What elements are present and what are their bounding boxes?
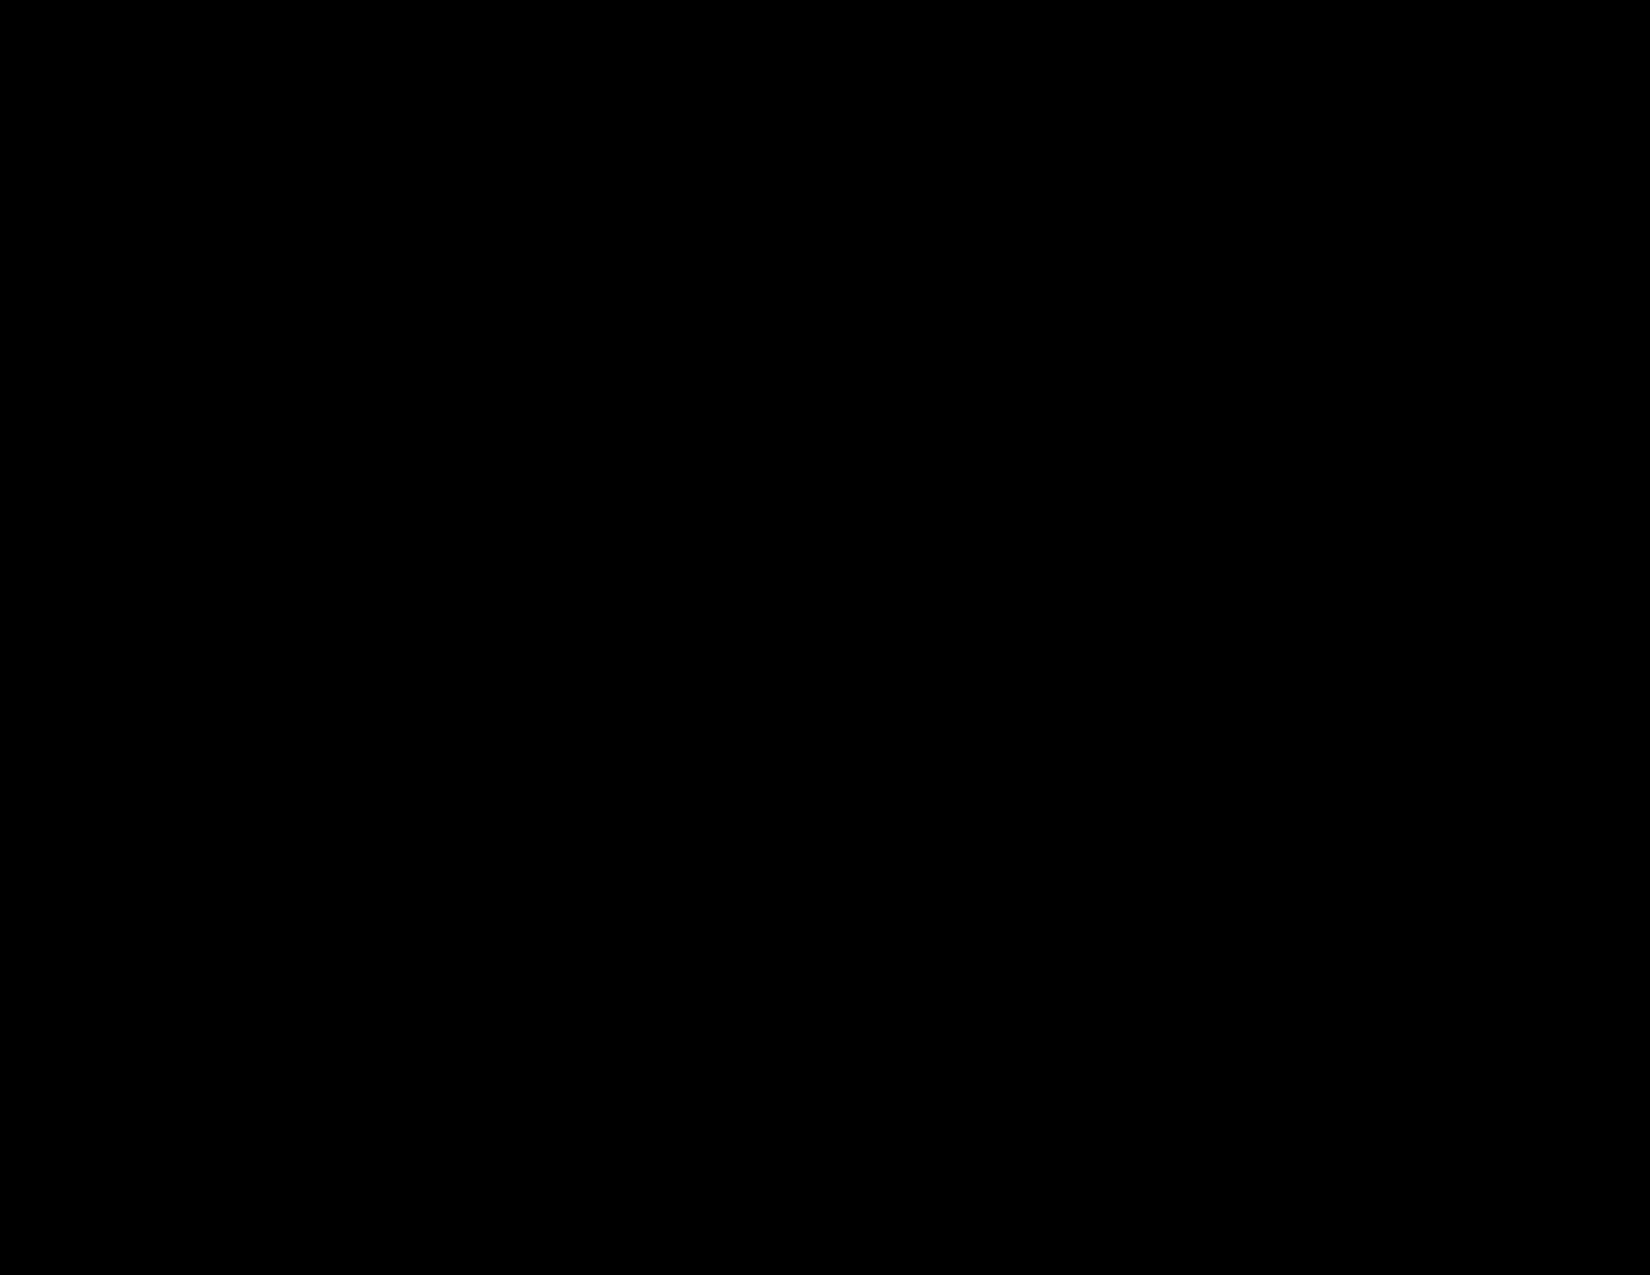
attribution-reference: Romans 10:2 (NASB [769, 353, 1467, 438]
verse-slide: For I testify about them that they have … [0, 0, 1650, 1275]
top-glow-banner [25, 10, 1625, 96]
attribution-dash: — [699, 353, 770, 438]
verse-body-text: For I testify about them that they have … [85, 115, 1422, 336]
banner-glow-layer [25, 10, 1625, 110]
slide-artwork-canvas: For I testify about them that they have … [25, 10, 1625, 1235]
verse-text-block: For I testify about them that they have … [85, 115, 1515, 434]
registered-trademark-icon: ® [1468, 370, 1492, 409]
verse-attribution: — Romans 10:2 (NASB®) [178, 358, 1515, 434]
attribution-closing-paren: ) [1492, 353, 1515, 438]
